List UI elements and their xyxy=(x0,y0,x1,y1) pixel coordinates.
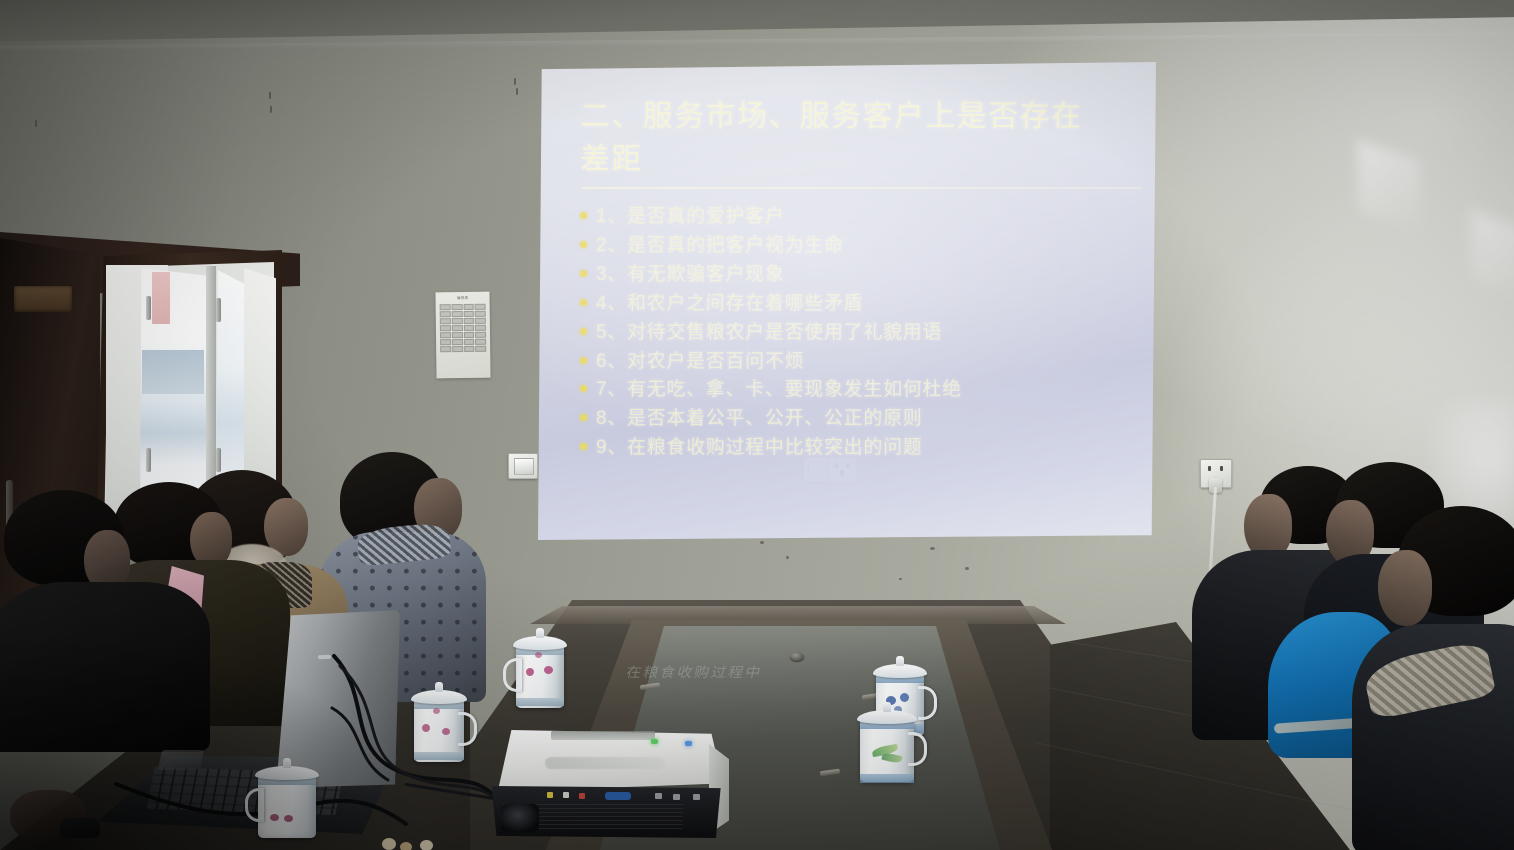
bullet-dot-icon xyxy=(580,385,587,392)
projection-screen: 二、服务市场、服务客户上是否存在差距 1、是否真的爱护客户2、是否真的把客户视为… xyxy=(538,62,1156,540)
slide-title-rule xyxy=(582,187,1142,189)
slide-bullet-list: 1、是否真的爱护客户2、是否真的把客户视为生命3、有无欺骗客户现象4、和农户之间… xyxy=(580,203,1130,463)
cup-handle xyxy=(503,658,522,692)
notice-cell xyxy=(475,303,486,309)
slide-bullet-text: 3、有无欺骗客户现象 xyxy=(596,261,785,290)
slide-bullet-item: 2、是否真的把客户视为生命 xyxy=(580,232,1130,261)
cup-floral-motif xyxy=(433,708,440,714)
slide-bullet-text: 9、在粮食收购过程中比较突出的问题 xyxy=(596,434,922,463)
slide-bullet-item: 4、和农户之间存在着哪些矛盾 xyxy=(580,290,1130,319)
computer-mouse[interactable] xyxy=(60,818,100,838)
light-switch-left[interactable] xyxy=(508,453,538,479)
teacup-foreground-left[interactable] xyxy=(258,762,316,850)
bullet-dot-icon xyxy=(580,357,587,364)
cup-floral-motif xyxy=(526,668,534,676)
slide-bullet-item: 7、有无吃、拿、卡、要现象发生如何杜绝 xyxy=(580,376,1130,405)
notice-cell xyxy=(452,325,463,331)
cup-lid xyxy=(513,636,567,650)
bullet-dot-icon xyxy=(580,241,587,248)
notice-cell xyxy=(440,339,451,345)
notice-cell xyxy=(464,338,475,344)
window-handle-icon[interactable] xyxy=(146,296,151,320)
cup-lid-knob xyxy=(883,702,891,712)
notice-cell xyxy=(451,311,462,317)
port-indicator xyxy=(579,793,585,799)
notice-cell xyxy=(440,325,451,331)
notice-cell xyxy=(440,332,451,338)
lamp-led-icon xyxy=(685,741,692,746)
slide-bullet-item: 3、有无欺骗客户现象 xyxy=(580,261,1130,290)
slide-bullet-text: 2、是否真的把客户视为生命 xyxy=(596,232,844,261)
laptop-touchpad[interactable] xyxy=(158,750,204,770)
slide-bullet-item: 6、对农户是否百问不烦 xyxy=(580,348,1130,377)
cup-foot-band xyxy=(516,698,564,706)
notice-cell xyxy=(463,331,474,337)
teacup-left-mid[interactable] xyxy=(414,686,464,766)
projector-lens xyxy=(501,804,539,832)
cable-grommet xyxy=(790,652,804,661)
person-l1 xyxy=(0,478,210,738)
slide-bullet-item: 9、在粮食收购过程中比较突出的问题 xyxy=(580,434,1130,463)
bullet-dot-icon xyxy=(580,299,587,306)
cup-foot-band xyxy=(860,774,914,783)
ceiling-nail-icon xyxy=(269,92,271,99)
flower-decoration xyxy=(420,840,433,850)
cup-lid-knob xyxy=(536,628,544,638)
ceiling-nail-icon xyxy=(516,88,518,95)
torso xyxy=(0,582,210,752)
cup-floral-motif xyxy=(270,814,279,821)
notice-cell xyxy=(440,346,451,352)
notice-cell xyxy=(475,310,486,316)
notice-cell xyxy=(452,318,463,324)
slide-bullet-text: 1、是否真的爱护客户 xyxy=(596,203,785,232)
power-led-icon xyxy=(651,739,658,744)
notice-cell xyxy=(452,346,463,352)
notice-cell xyxy=(475,338,486,344)
cup-lid-knob xyxy=(283,758,291,768)
slide-bullet-text: 4、和农户之间存在着哪些矛盾 xyxy=(596,290,863,319)
ceiling-nail-icon xyxy=(270,106,272,113)
vga-port xyxy=(605,792,631,800)
notice-title: 值班表 xyxy=(440,297,486,301)
projector-brand-logo xyxy=(545,757,665,769)
projector-top-vent xyxy=(551,731,655,740)
projector[interactable] xyxy=(487,730,729,848)
port-indicator xyxy=(563,792,569,798)
slide-title: 二、服务市场、服务客户上是否存在差距 xyxy=(580,96,1112,181)
notice-cell xyxy=(475,345,486,351)
switch-rocker[interactable] xyxy=(514,458,534,475)
cup-lid-knob xyxy=(896,656,904,666)
port-indicator xyxy=(655,793,662,799)
notice-cell xyxy=(463,310,474,316)
notice-cell xyxy=(463,303,474,309)
port-indicator xyxy=(673,794,680,800)
conference-room-scene: 值班表 二、服务市场、服务客户上是否存在差距 1、是否真的爱护客户2、是否真的把… xyxy=(0,0,1514,850)
cup-lid xyxy=(857,710,917,724)
cup-handle xyxy=(245,788,264,822)
notice-cell xyxy=(440,318,451,324)
slide-bullet-text: 8、是否本着公平、公开、公正的原则 xyxy=(596,405,922,434)
wall-speck xyxy=(760,541,764,544)
wall-speck xyxy=(930,547,935,550)
bullet-dot-icon xyxy=(580,443,587,450)
slide-bullet-item: 5、对待交售粮农户是否使用了礼貌用语 xyxy=(580,319,1130,348)
notice-grid xyxy=(440,303,487,352)
port-indicator xyxy=(693,794,700,800)
outdoor-red-building xyxy=(152,272,170,324)
cup-lid-knob xyxy=(435,682,443,692)
cup-foot-band xyxy=(414,752,464,760)
slide-bullet-item: 8、是否本着公平、公开、公正的原则 xyxy=(580,405,1130,434)
door-vent-panel xyxy=(14,286,72,312)
cup-body xyxy=(258,776,316,838)
window-handle-icon[interactable] xyxy=(216,448,221,472)
slide-bullet-text: 5、对待交售粮农户是否使用了礼貌用语 xyxy=(596,319,942,348)
window-handle-icon[interactable] xyxy=(146,448,151,472)
notice-cell xyxy=(452,332,463,338)
notice-cell xyxy=(464,345,475,351)
notice-cell xyxy=(451,304,462,310)
cup-lid xyxy=(873,664,927,678)
wall-notice-chart: 值班表 xyxy=(435,292,490,379)
cup-lid xyxy=(255,766,319,780)
cup-floral-motif xyxy=(422,724,430,732)
outdoor-blue-structure xyxy=(142,350,204,394)
bullet-dot-icon xyxy=(580,328,587,335)
slide-bullet-text: 6、对农户是否百问不烦 xyxy=(596,348,804,377)
notice-cell xyxy=(475,317,486,323)
notice-cell xyxy=(475,331,486,337)
ceiling-nail-icon xyxy=(514,78,516,85)
teacup-right-front[interactable] xyxy=(860,706,914,792)
notice-cell xyxy=(475,324,486,330)
slide-content: 二、服务市场、服务客户上是否存在差距 1、是否真的爱护客户2、是否真的把客户视为… xyxy=(538,62,1156,540)
cup-blue-floral-motif xyxy=(900,693,909,702)
slide-bullet-item: 1、是否真的爱护客户 xyxy=(580,203,1130,232)
notice-cell xyxy=(452,339,463,345)
outlet-slot xyxy=(1220,466,1223,471)
flower-decoration xyxy=(400,842,412,850)
notice-cell xyxy=(463,317,474,323)
bullet-dot-icon xyxy=(580,212,587,219)
slide-bullet-text: 7、有无吃、拿、卡、要现象发生如何杜绝 xyxy=(596,376,962,405)
outlet-slot xyxy=(1208,466,1211,471)
person-r3 xyxy=(1372,506,1514,850)
window-handle-icon[interactable] xyxy=(216,298,221,322)
cup-floral-motif xyxy=(442,728,450,735)
teacup-center-left[interactable] xyxy=(516,632,564,710)
notice-cell xyxy=(440,311,451,317)
cup-floral-motif xyxy=(284,815,293,822)
cup-lid xyxy=(411,690,467,704)
port-indicator xyxy=(547,792,553,798)
cup-floral-motif xyxy=(544,666,553,674)
notice-cell xyxy=(463,324,474,330)
face xyxy=(1378,550,1432,626)
bullet-dot-icon xyxy=(580,414,587,421)
notice-cell xyxy=(440,304,451,310)
cup-floral-motif xyxy=(535,652,542,658)
bullet-dot-icon xyxy=(580,270,587,277)
flower-decoration xyxy=(382,838,396,850)
ceiling-nail-icon xyxy=(35,120,37,127)
